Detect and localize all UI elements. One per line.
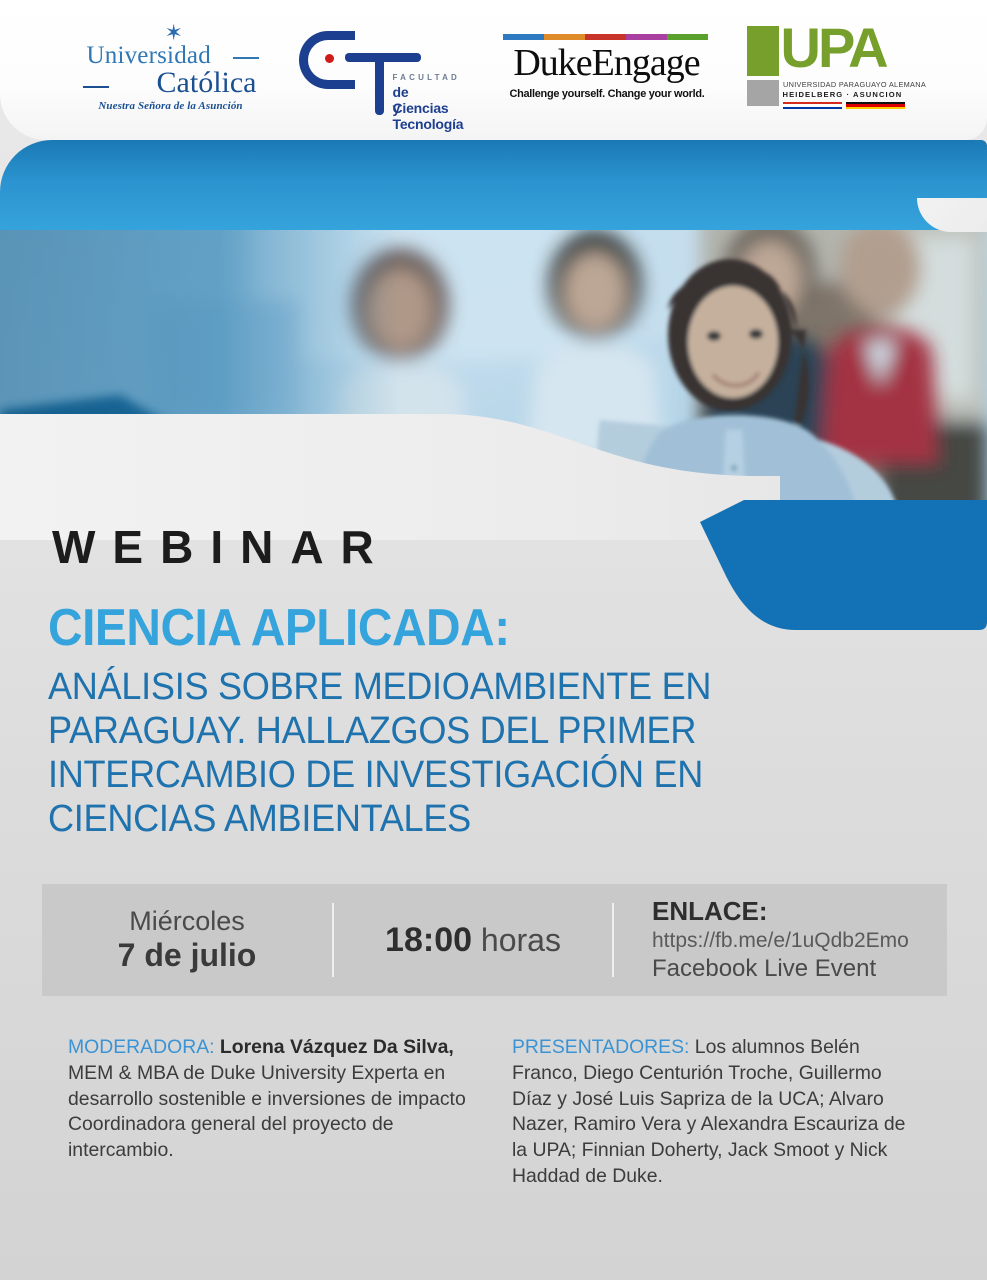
link-url[interactable]: https://fb.me/e/1uQdb2Emo	[652, 928, 947, 954]
duke-wordmark: DukeEngage	[501, 44, 713, 82]
event-time-unit: horas	[481, 922, 561, 958]
star-icon: ✶	[165, 22, 183, 44]
event-day: 7 de julio	[42, 937, 332, 974]
link-label: ENLACE:	[652, 896, 947, 928]
hero-blue-ribbon	[0, 140, 987, 230]
presenters-list: Los alumnos Belén Franco, Diego Centurió…	[512, 1036, 905, 1187]
moderator-block: MODERADORA: Lorena Vázquez Da Silva, MEM…	[68, 1035, 468, 1190]
logo-upa: UPA UNIVERSIDAD PARAGUAYO ALEMANA HEIDEL…	[747, 24, 907, 116]
cyt-line2: y Tecnología	[393, 100, 467, 132]
moderator-role-label: MODERADORA:	[68, 1036, 215, 1058]
moderator-bio: MEM & MBA de Duke University Experta en …	[68, 1062, 466, 1161]
uca-line2: Católica	[81, 66, 261, 100]
event-weekday: Miércoles	[42, 906, 332, 938]
presenters-block: PRESENTADORES: Los alumnos Belén Franco,…	[512, 1035, 912, 1190]
upa-subtitle-1: UNIVERSIDAD PARAGUAYO ALEMANA	[783, 80, 926, 89]
event-time-value: 18:00	[385, 921, 472, 959]
event-time: 18:00 horas	[334, 884, 612, 996]
webinar-poster: ✶ Universidad Católica Nuestra Señora de…	[0, 0, 987, 1280]
subtitle-line-2: PARAGUAY. HALLAZGOS DEL PRIMER	[48, 709, 903, 753]
uca-line3: Nuestra Señora de la Asunción	[81, 100, 261, 112]
letter-t-stem-icon	[375, 53, 384, 115]
subtitle-line-1: ANÁLISIS SOBRE MEDIOAMBIENTE EN	[48, 665, 903, 709]
subtitle-line-4: CIENCIAS AMBIENTALES	[48, 797, 903, 841]
duke-tagline: Challenge yourself. Change your world.	[505, 88, 709, 100]
event-date: Miércoles 7 de julio	[42, 884, 332, 996]
upa-subtitle-2: HEIDELBERG · ASUNCION	[783, 90, 903, 99]
moderator-name: Lorena Vázquez Da Silva,	[220, 1036, 454, 1058]
logo-facultad-ciencias-tecnologia: FACULTAD de Ciencias y Tecnología	[295, 23, 467, 117]
red-dot-icon	[325, 54, 334, 63]
event-info-bar: Miércoles 7 de julio 18:00 horas ENLACE:…	[42, 884, 947, 996]
subtitle-line-3: INTERCAMBIO DE INVESTIGACIÓN EN	[48, 753, 903, 797]
upa-flags-icon	[783, 102, 905, 109]
logo-universidad-catolica: ✶ Universidad Católica Nuestra Señora de…	[81, 24, 261, 116]
gray-swoosh-shape	[0, 380, 780, 540]
logo-dukeengage: DukeEngage Challenge yourself. Change yo…	[501, 30, 713, 110]
germany-flag-icon	[846, 102, 905, 109]
paraguay-flag-icon	[783, 102, 842, 109]
presenters-role-label: PRESENTADORES:	[512, 1036, 689, 1058]
link-platform: Facebook Live Event	[652, 954, 947, 983]
kicker-webinar: WEBINAR	[52, 520, 391, 574]
event-link[interactable]: ENLACE: https://fb.me/e/1uQdb2Emo Facebo…	[614, 884, 947, 996]
page-subtitle: ANÁLISIS SOBRE MEDIOAMBIENTE EN PARAGUAY…	[48, 665, 903, 841]
upa-green-block-icon	[747, 26, 779, 76]
page-title: CIENCIA APLICADA:	[48, 598, 510, 658]
upa-gray-block-icon	[747, 80, 779, 106]
duke-color-bar-icon	[503, 34, 708, 40]
event-time-row: 18:00 horas	[334, 921, 612, 960]
upa-wordmark: UPA	[781, 20, 886, 76]
cyt-faculty-label: FACULTAD	[393, 73, 461, 82]
sponsor-logo-strip: ✶ Universidad Católica Nuestra Señora de…	[0, 0, 987, 140]
people-section: MODERADORA: Lorena Vázquez Da Silva, MEM…	[68, 1035, 936, 1190]
blue-accent-tab	[700, 500, 987, 630]
